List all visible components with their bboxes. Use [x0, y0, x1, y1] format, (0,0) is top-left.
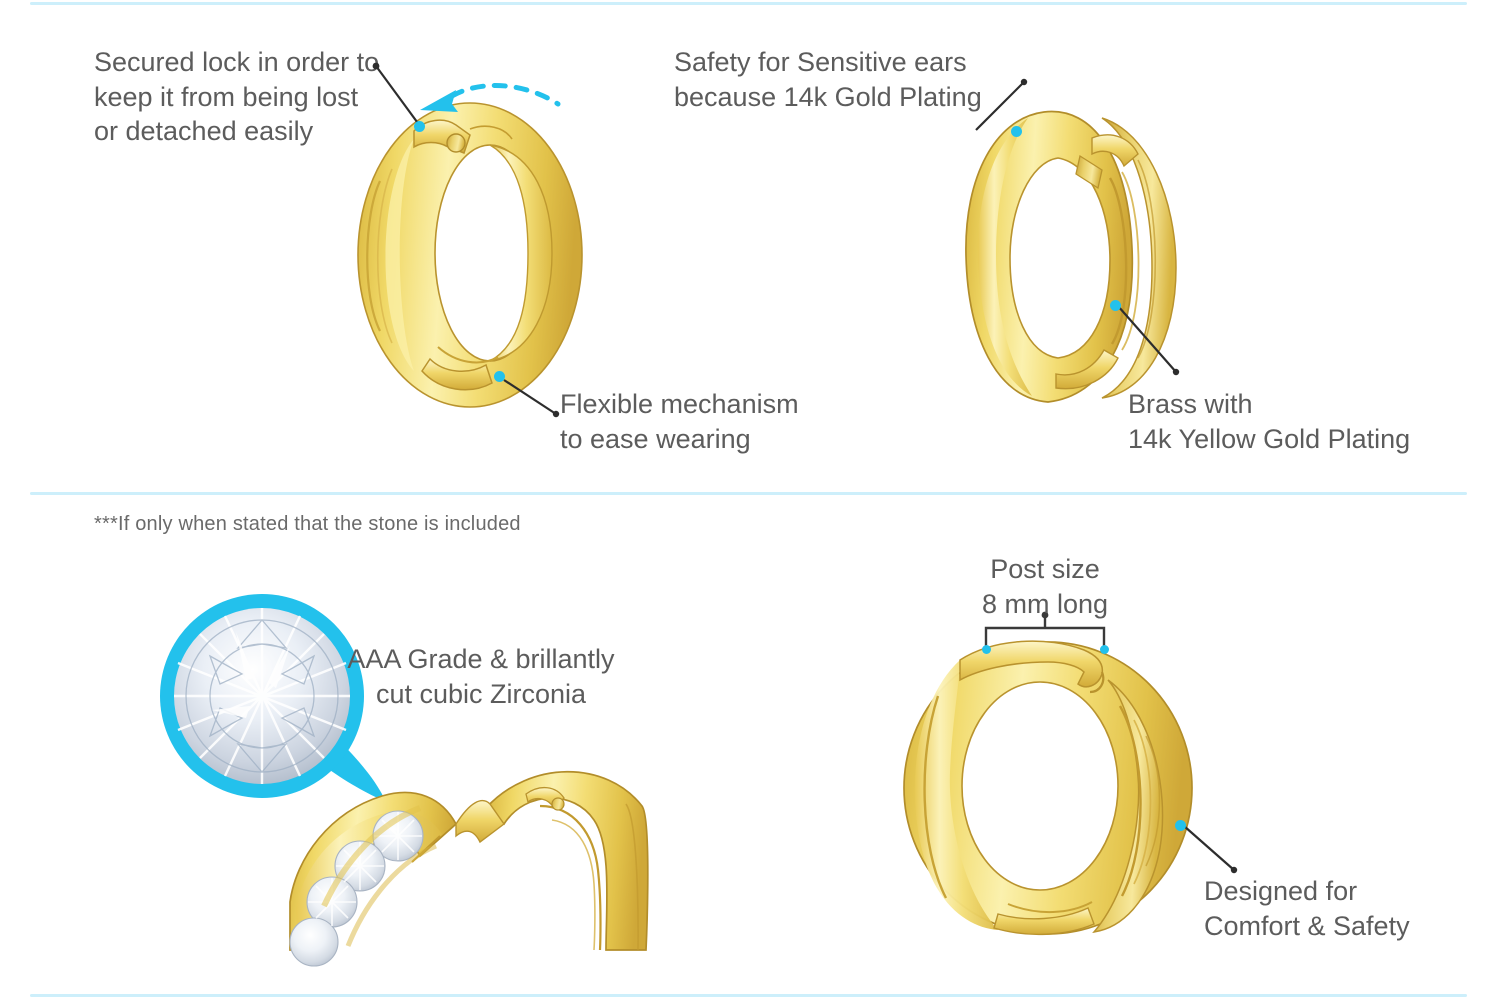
anchor-dot-post-right [1100, 645, 1109, 654]
callout-brass-plating: Brass with 14k Yellow Gold Plating [1128, 387, 1458, 456]
callout-post-size: Post size 8 mm long [950, 552, 1140, 621]
leader-brass-plating [1112, 300, 1184, 378]
leader-flexible-mechanism [500, 376, 562, 422]
anchor-dot-comfort-safety [1175, 820, 1186, 831]
divider-bottom [30, 994, 1467, 997]
hinge-motion-arrow [412, 78, 572, 130]
callout-sensitive-ears: Safety for Sensitive ears because 14k Go… [674, 45, 1004, 114]
callout-cubic-zirconia: AAA Grade & brillantly cut cubic Zirconi… [336, 642, 626, 711]
stone-disclaimer: ***If only when stated that the stone is… [94, 513, 521, 536]
earring-stone-set [290, 750, 650, 950]
anchor-dot-sensitive-ears [1011, 126, 1022, 137]
anchor-dot-brass-plating [1110, 300, 1121, 311]
anchor-dot-flexible-mechanism [494, 371, 505, 382]
leader-comfort-safety [1178, 820, 1240, 876]
anchor-dot-secured-lock [414, 121, 425, 132]
callout-secured-lock: Secured lock in order to keep it from be… [94, 45, 394, 149]
infographic-canvas: Secured lock in order to keep it from be… [0, 0, 1497, 1000]
divider-middle [30, 492, 1467, 495]
anchor-dot-post-left [982, 645, 991, 654]
divider-top [30, 2, 1467, 5]
earring-open-hoop [898, 636, 1208, 936]
callout-comfort-safety: Designed for Comfort & Safety [1204, 874, 1484, 943]
callout-flexible-mechanism: Flexible mechanism to ease wearing [560, 387, 880, 456]
